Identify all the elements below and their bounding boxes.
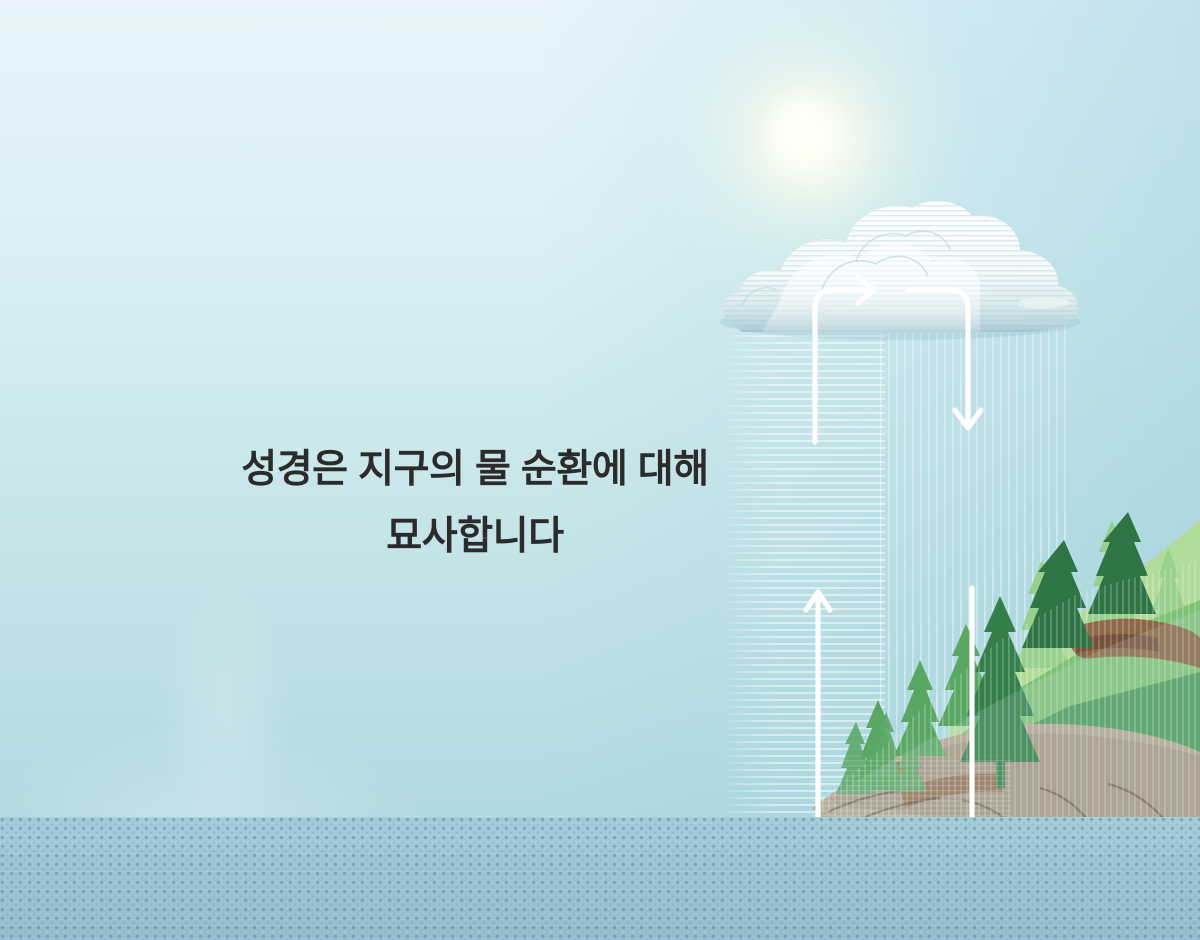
cloud-icon bbox=[700, 190, 1120, 350]
slide-canvas: 성경은 지구의 물 순환에 대해 묘사합니다 bbox=[0, 0, 1200, 940]
ocean-sheen bbox=[0, 817, 1200, 940]
page-title: 성경은 지구의 물 순환에 대해 묘사합니다 bbox=[110, 436, 840, 570]
